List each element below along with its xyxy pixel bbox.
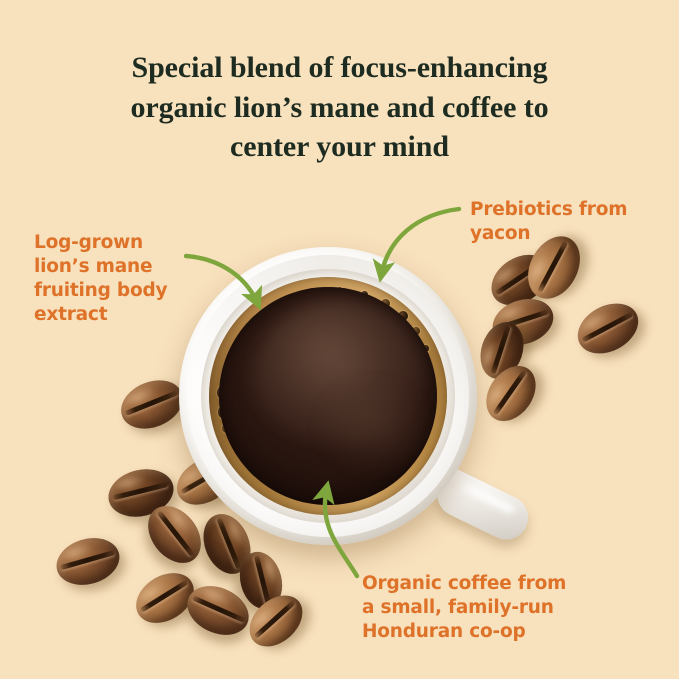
page-title: Special blend of focus-enhancing organic… (0, 48, 679, 167)
coffee-cup (179, 247, 477, 545)
callout-label-prebiotics: Prebiotics from yacon (470, 198, 627, 246)
callout-label-organic-coffee: Organic coffee from a small, family-run … (362, 572, 566, 644)
coffee-bean (569, 294, 647, 364)
callout-label-lions-mane: Log-grown lion’s mane fruiting body extr… (34, 231, 167, 327)
coffee-highlight-secondary (319, 383, 428, 470)
coffee-surface (219, 287, 437, 505)
coffee-bean (51, 531, 125, 592)
promo-infographic: Special blend of focus-enhancing organic… (0, 0, 679, 679)
